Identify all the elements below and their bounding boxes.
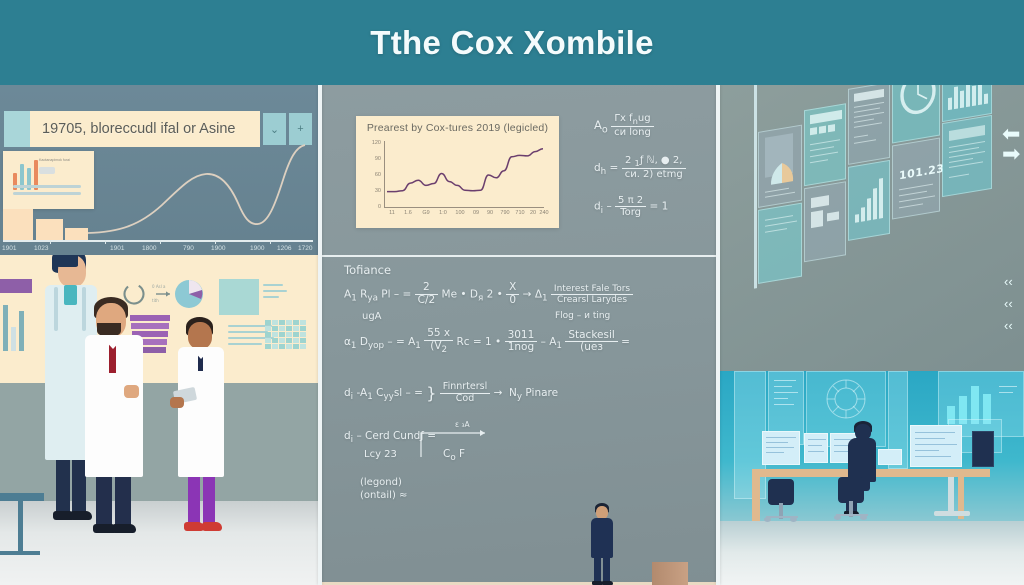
- equation-row-1-sub: ugA: [362, 311, 382, 322]
- text-report-tile[interactable]: [848, 85, 890, 165]
- equation-top-3: di – 5 π 2Torg = 1: [594, 195, 668, 218]
- chevron-glyph-icon: ‹‹: [1004, 275, 1013, 288]
- page-title: Tthe Cox Xombile: [370, 24, 654, 62]
- axis-tick-label: 1800: [142, 245, 156, 252]
- chevron-glyph-icon: ‹‹: [1004, 297, 1013, 310]
- office-chair[interactable]: [768, 479, 794, 505]
- chart-series-line: [384, 141, 544, 207]
- right-panel: 101.23 ⬅ ➡ ‹‹ ‹‹ ‹‹: [720, 85, 1024, 585]
- x-tick-label: 90: [487, 210, 493, 216]
- x-tick-label: 09: [473, 210, 479, 216]
- desk-right: [878, 469, 990, 477]
- chart-card: Prearest by Cox-tures 2019 (legicled) 12…: [356, 116, 559, 228]
- scientist-right: [178, 317, 230, 545]
- axis-tick-label: 1901: [2, 245, 16, 252]
- x-tick-label: 710: [515, 210, 524, 216]
- monitor-dark[interactable]: [972, 431, 994, 467]
- teal-block-poster: [219, 279, 259, 315]
- arrow-right-icon: ➡: [1002, 143, 1020, 165]
- desk-left-leg: [752, 477, 760, 521]
- svg-text:tith: tith: [152, 298, 159, 303]
- analyst-workstation: [720, 371, 1024, 585]
- lab-bench: [0, 493, 44, 501]
- equation-row-3: di -A1 Cууsl – = } FinnrterslCod → Nу Pi…: [344, 382, 558, 404]
- x-tick-label: 20: [530, 210, 536, 216]
- chevron-glyph-icon: ‹‹: [1004, 319, 1013, 332]
- metric-value: 101.23: [899, 162, 944, 183]
- y-tick-label: 30: [375, 188, 381, 194]
- x-tick-label: 11: [389, 210, 395, 216]
- chart-title: Prearest by Cox-tures 2019 (legicled): [356, 122, 559, 134]
- y-tick-label: 60: [375, 172, 381, 178]
- small-text-poster: [263, 281, 289, 303]
- x-tick-label: 240: [539, 210, 548, 216]
- pie-chart-poster: [172, 279, 206, 309]
- legend-line-1: (legond): [360, 477, 402, 488]
- x-tick-label: 1.6: [404, 210, 412, 216]
- axis-tick-label: 1720: [298, 245, 312, 252]
- workstation-floor: [720, 521, 1024, 585]
- axis-tick-label: 1901: [110, 245, 124, 252]
- x-tick-label: 790: [500, 210, 509, 216]
- monitor[interactable]: [804, 433, 828, 463]
- chart-plot: 120 90 60 30 0 11 1.6 G9 1:0 100 09 90 7…: [384, 141, 544, 207]
- header-bar: Tthe Cox Xombile: [0, 0, 1024, 85]
- monitor[interactable]: [910, 425, 962, 467]
- svg-text:0 Asl a: 0 Asl a: [152, 284, 166, 289]
- filing-cabinet: [652, 562, 688, 585]
- keypad-tile[interactable]: [804, 103, 846, 186]
- lab-bench-foot: [0, 551, 40, 555]
- equation-row-1-tail: Flog – и ting: [555, 311, 610, 321]
- center-panel: Prearest by Cox-tures 2019 (legicled) 12…: [322, 85, 716, 585]
- panel-divider-left: [318, 85, 322, 585]
- x-axis: [384, 207, 544, 208]
- doc-tile-a[interactable]: [758, 203, 802, 284]
- x-tick-label: G9: [422, 210, 429, 216]
- axis-tick-label: 790: [183, 245, 194, 252]
- y-tick-label: 120: [372, 140, 381, 146]
- equation-row-2: α1 Dуοр – = A1 55 x(V2 Rс = 1 • 30111nog…: [344, 328, 630, 356]
- office-chair[interactable]: [838, 477, 864, 503]
- axis-tick-label: 1900: [250, 245, 264, 252]
- panel-divider-right: [716, 85, 720, 585]
- businessman-standing: [587, 503, 617, 585]
- scientist-bearded-center: [84, 297, 150, 543]
- center-divider: [322, 255, 716, 257]
- y-tick-label: 0: [378, 204, 381, 210]
- x-tick-label: 100: [455, 210, 464, 216]
- lab-scene: 0 Asl a tith: [0, 255, 318, 585]
- section-title: Tofiance: [344, 263, 391, 277]
- axis-tick-label: 1023: [34, 245, 48, 252]
- pie-tile[interactable]: [758, 125, 802, 208]
- legend-line-2: (ontail) ≈: [360, 490, 407, 501]
- document-tile[interactable]: [942, 115, 992, 197]
- heatmap-grid-poster: [265, 320, 309, 354]
- screenshot-canvas: Tthe Cox Xombile 19705, bloreccudl ifal …: [0, 0, 1024, 585]
- axis-tick-label: 1206: [277, 245, 291, 252]
- clock-gauge-tile[interactable]: [892, 85, 940, 144]
- left-panel: 19705, bloreccudl ifal or Asine ⌄ + Kaot…: [0, 85, 318, 585]
- axis-tick-label: 1900: [211, 245, 225, 252]
- equation-row-4-sub: Lсy 23: [364, 449, 397, 460]
- metric-tile[interactable]: 101.23: [892, 138, 940, 220]
- trend-curve: [0, 125, 318, 243]
- bar-chart-poster: [0, 279, 34, 351]
- x-tick-label: 1:0: [439, 210, 447, 216]
- equation-top-2: dh = 2 1ƒ ℕ, ● 2,cи. 2) etmg: [594, 155, 686, 181]
- monitor[interactable]: [762, 431, 800, 465]
- lab-bench-leg: [18, 501, 23, 553]
- ramp-bar-tile[interactable]: [848, 160, 890, 241]
- equation-row-1: A1 Rуа Pl – = 2C/2 Mе • Dя 2 • X0 → Δ1 I…: [344, 282, 633, 307]
- y-tick-label: 90: [375, 156, 381, 162]
- equation-row-4-rhs: Cο F: [443, 448, 465, 463]
- shape-tile[interactable]: [804, 181, 846, 262]
- equation-top-1: Ao Γx fnugcи long: [594, 113, 654, 139]
